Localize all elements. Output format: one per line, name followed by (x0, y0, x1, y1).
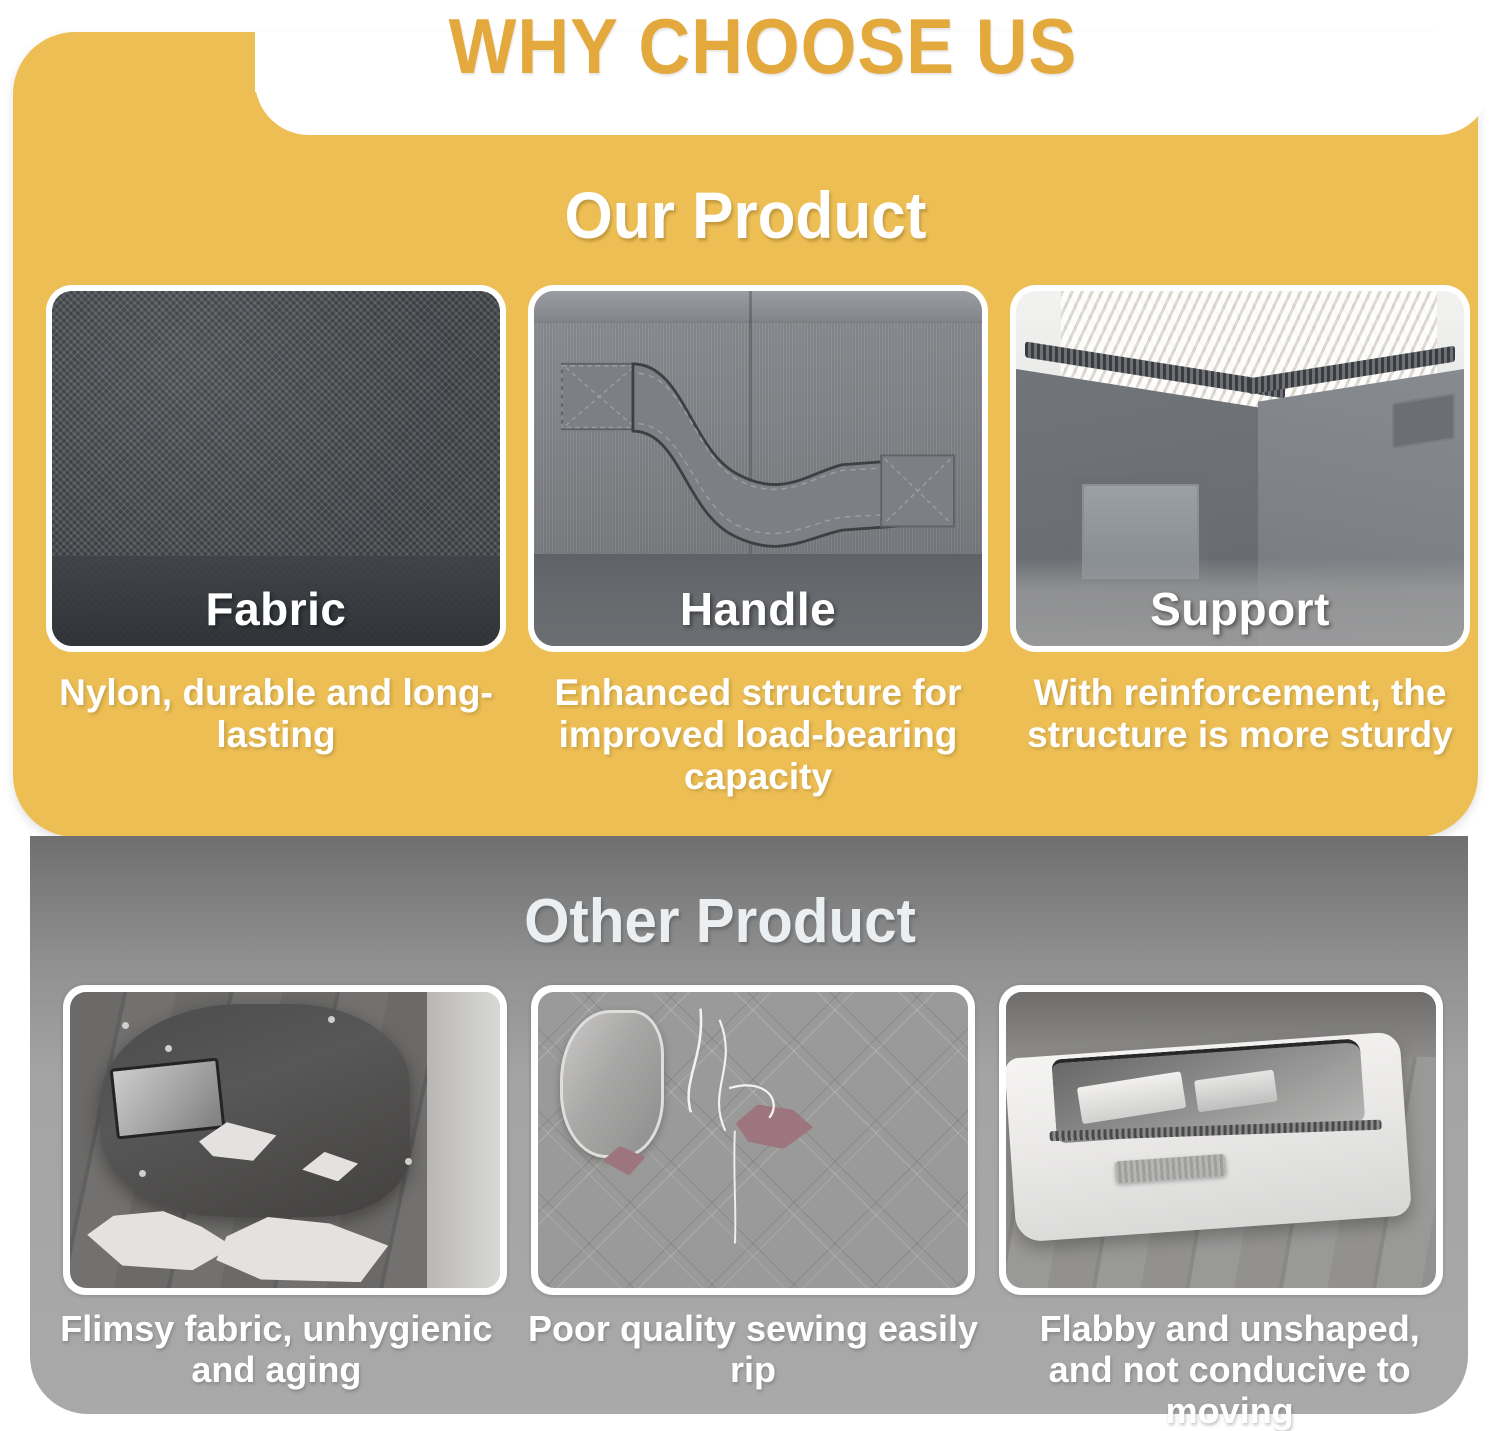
card-label-support: Support (1016, 582, 1464, 636)
wood-floor-icon (70, 992, 500, 1288)
our-product-card-fabric[interactable]: Fabric (46, 285, 506, 652)
webbing-handle (1115, 1154, 1227, 1184)
side-handle (1392, 393, 1455, 449)
our-product-caption-row: Nylon, durable and long-lasting Enhanced… (46, 672, 1470, 842)
broken-bag-photo (70, 992, 500, 1288)
wall-baseboard (427, 992, 500, 1288)
other-product-card-flimsy[interactable] (63, 985, 507, 1295)
caption-fabric: Nylon, durable and long-lasting (46, 672, 506, 842)
flake (87, 1211, 233, 1270)
support-photo: Support (1016, 291, 1464, 646)
bag-contents (1077, 1071, 1186, 1124)
other-product-card-sewing[interactable] (531, 985, 975, 1295)
debris-dot (139, 1170, 146, 1177)
bag-contents (1195, 1070, 1279, 1113)
floppy-bag-photo (1006, 992, 1436, 1288)
other-product-card-flabby[interactable] (999, 985, 1443, 1295)
ripped-quilted-fabric-photo (538, 992, 968, 1288)
caption-flabby: Flabby and unshaped, and not conducive t… (1003, 1308, 1456, 1413)
handle-photo: Handle (534, 291, 982, 646)
flake (216, 1217, 388, 1282)
infographic-page: WHY CHOOSE US Our Product Fabric (0, 0, 1500, 1425)
our-product-card-row: Fabric (46, 285, 1470, 652)
caption-support: With reinforcement, the structure is mor… (1010, 672, 1470, 842)
our-product-card-handle[interactable]: Handle (528, 285, 988, 652)
debris-dot (405, 1158, 412, 1165)
other-product-card-row (63, 985, 1443, 1295)
caption-sewing: Poor quality sewing easily rip (527, 1308, 980, 1413)
other-product-caption-row: Flimsy fabric, unhygienic and aging Poor… (50, 1308, 1456, 1413)
clear-window-panel (110, 1058, 226, 1140)
debris-dot (165, 1045, 172, 1052)
card-label-handle: Handle (534, 582, 982, 636)
debris-dot (328, 1016, 335, 1023)
debris-dot (122, 1022, 129, 1029)
our-product-panel: WHY CHOOSE US Our Product Fabric (13, 32, 1478, 837)
fabric-photo: Fabric (52, 291, 500, 646)
card-label-fabric: Fabric (52, 582, 500, 636)
caption-handle: Enhanced structure for improved load-bea… (528, 672, 988, 842)
floppy-bag-icon (1006, 992, 1436, 1288)
loose-threads-icon (538, 992, 968, 1288)
caption-flimsy: Flimsy fabric, unhygienic and aging (50, 1308, 503, 1413)
our-product-card-support[interactable]: Support (1010, 285, 1470, 652)
page-title: WHY CHOOSE US (73, 0, 1453, 96)
bag-body (1006, 1032, 1412, 1243)
our-product-heading: Our Product (57, 178, 1434, 254)
quilted-fabric-icon (538, 992, 968, 1288)
other-product-heading: Other Product (43, 886, 1397, 957)
